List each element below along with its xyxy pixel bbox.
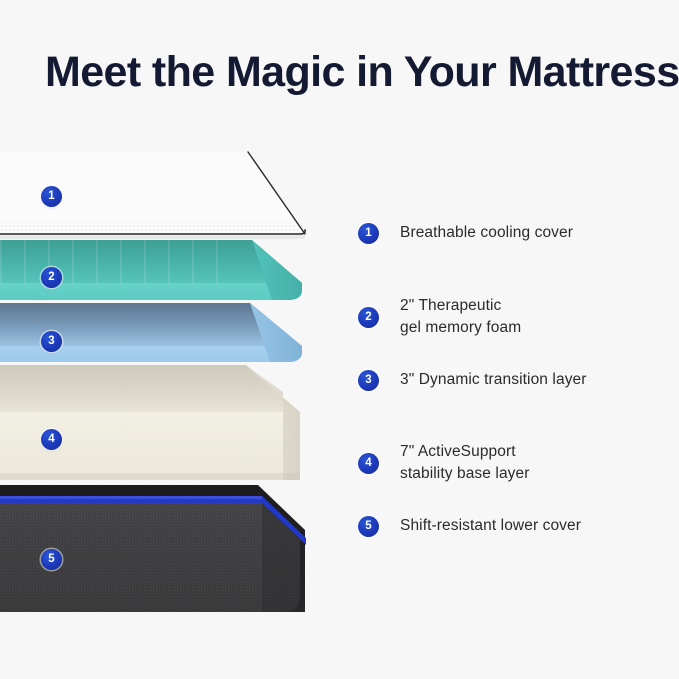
legend-badge-5: 5 — [358, 516, 379, 537]
layer-5-shift-resistant-lower-cover — [0, 485, 306, 612]
legend-label-1: Breathable cooling cover — [400, 222, 573, 244]
infographic-page: Meet the Magic in Your Mattress — [0, 0, 679, 679]
diagram-badge-2: 2 — [41, 267, 62, 288]
diagram-badge-4: 4 — [41, 429, 62, 450]
legend-item-1: 1 Breathable cooling cover — [358, 222, 668, 244]
legend-label-2: 2" Therapeutic gel memory foam — [400, 295, 521, 340]
legend-badge-wrap-1: 1 — [358, 223, 379, 244]
diagram-badge-5: 5 — [41, 549, 62, 570]
legend-badge-wrap-5: 5 — [358, 516, 379, 537]
legend-badge-wrap-3: 3 — [358, 370, 379, 391]
legend-label-3: 3" Dynamic transition layer — [400, 369, 587, 391]
diagram-badge-3: 3 — [41, 331, 62, 352]
legend-item-2: 2 2" Therapeutic gel memory foam — [358, 295, 668, 340]
legend-badge-3: 3 — [358, 370, 379, 391]
legend-badge-wrap-4: 4 — [358, 453, 379, 474]
legend-item-4: 4 7" ActiveSupport stability base layer — [358, 441, 668, 486]
legend-badge-2: 2 — [358, 307, 379, 328]
mattress-layer-diagram: 1 2 3 4 5 — [0, 140, 340, 640]
legend-item-3: 3 3" Dynamic transition layer — [358, 369, 668, 391]
legend-item-5: 5 Shift-resistant lower cover — [358, 515, 668, 537]
legend-badge-wrap-2: 2 — [358, 307, 379, 328]
legend-badge-4: 4 — [358, 453, 379, 474]
page-title: Meet the Magic in Your Mattress — [45, 49, 645, 95]
layer-4-activesupport-stability-base-layer — [0, 365, 300, 480]
legend-label-4: 7" ActiveSupport stability base layer — [400, 441, 530, 486]
legend-badge-1: 1 — [358, 223, 379, 244]
legend-label-5: Shift-resistant lower cover — [400, 515, 581, 537]
diagram-badge-1: 1 — [41, 186, 62, 207]
